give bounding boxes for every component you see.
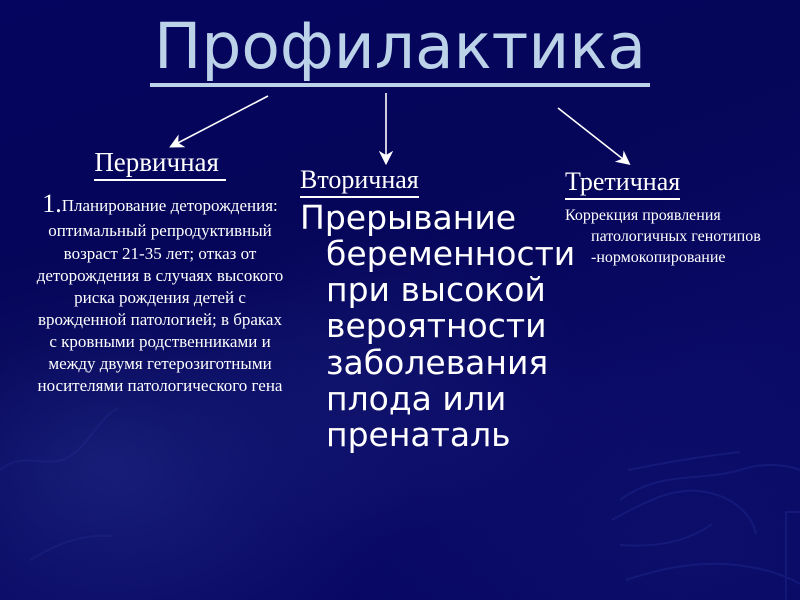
column-primary-text: Планирование деторождения: оптимальный р… bbox=[37, 196, 284, 395]
column-primary-heading: Первичная bbox=[94, 148, 225, 181]
slide: Профилактика Первичная 1.Планирование де… bbox=[0, 0, 800, 600]
column-primary-body: 1.Планирование деторождения: оптимальный… bbox=[36, 187, 284, 398]
column-secondary-body: Прерывание беременности при высокой веро… bbox=[300, 200, 548, 454]
column-secondary: Вторичная Прерывание беременности при вы… bbox=[300, 166, 548, 454]
column-secondary-heading: Вторичная bbox=[300, 166, 419, 198]
column-tertiary-body: Коррекция проявления патологичных геноти… bbox=[565, 205, 800, 268]
column-secondary-text: Прерывание беременности при высокой веро… bbox=[300, 198, 575, 455]
column-tertiary-text: Коррекция проявления патологичных геноти… bbox=[565, 207, 761, 266]
slide-title: Профилактика bbox=[150, 14, 650, 87]
column-primary: Первичная 1.Планирование деторождения: о… bbox=[36, 148, 284, 397]
column-primary-number: 1. bbox=[42, 189, 62, 218]
arrow-to-primary bbox=[172, 96, 268, 146]
column-tertiary: Третичная Коррекция проявления патологич… bbox=[565, 168, 800, 268]
slide-title-container: Профилактика bbox=[0, 14, 800, 87]
column-tertiary-heading: Третичная bbox=[565, 168, 680, 200]
arrow-to-tertiary bbox=[558, 108, 628, 163]
